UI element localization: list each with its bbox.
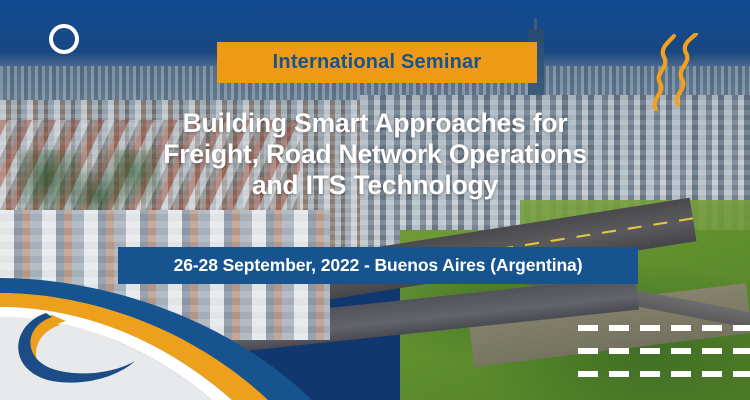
circle-outline-icon xyxy=(49,24,79,54)
title-line-1: Building Smart Approaches for xyxy=(40,108,710,139)
ribbon-label: International Seminar xyxy=(273,51,482,74)
international-seminar-ribbon: International Seminar xyxy=(217,42,537,83)
logo-corner-panel: PIARC xyxy=(0,275,330,400)
wavy-lines-icon xyxy=(648,33,702,111)
title-line-2: Freight, Road Network Operations xyxy=(40,139,710,170)
page-title: Building Smart Approaches for Freight, R… xyxy=(40,108,710,201)
seminar-banner: International Seminar Building Smart App… xyxy=(0,0,750,400)
date-location-label: 26-28 September, 2022 - Buenos Aires (Ar… xyxy=(174,255,583,276)
dashed-road-marks-icon xyxy=(578,325,750,377)
title-line-3: and ITS Technology xyxy=(40,170,710,201)
